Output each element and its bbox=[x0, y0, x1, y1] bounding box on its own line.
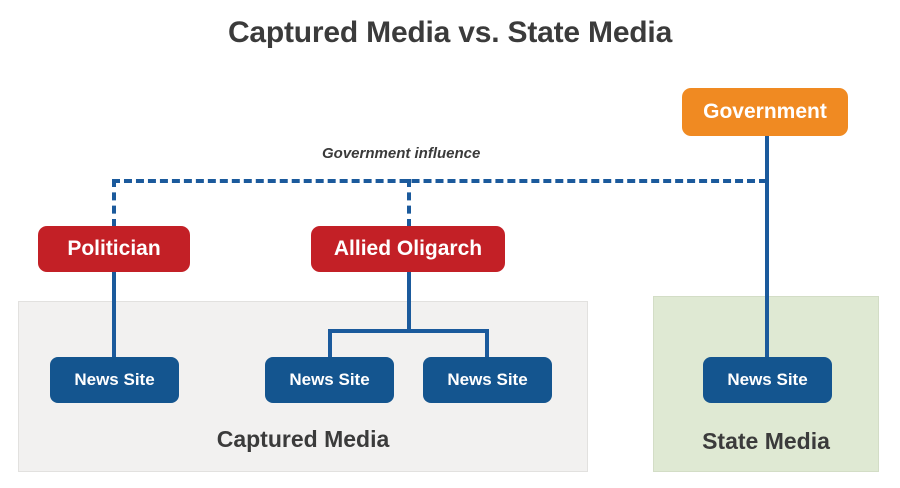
connector-politician-to-news bbox=[112, 272, 116, 358]
node-news-site-oligarch-right[interactable]: News Site bbox=[423, 357, 552, 403]
connector-oligarch-bus bbox=[328, 329, 488, 333]
connector-oligarch-to-news-left bbox=[328, 329, 332, 358]
influence-line-to-politician bbox=[112, 179, 116, 227]
panel-captured-media-label: Captured Media bbox=[19, 426, 587, 453]
connector-oligarch-to-news-right bbox=[485, 329, 489, 358]
diagram-canvas: Captured Media vs. State Media Captured … bbox=[0, 0, 900, 488]
connector-oligarch-stem bbox=[407, 272, 411, 331]
panel-state-media-label: State Media bbox=[654, 428, 878, 455]
node-news-site-state[interactable]: News Site bbox=[703, 357, 832, 403]
page-title: Captured Media vs. State Media bbox=[0, 16, 900, 50]
node-politician[interactable]: Politician bbox=[38, 226, 190, 272]
influence-line-horizontal bbox=[112, 179, 767, 183]
node-news-site-oligarch-left[interactable]: News Site bbox=[265, 357, 394, 403]
node-news-site-politician[interactable]: News Site bbox=[50, 357, 179, 403]
influence-line-to-oligarch bbox=[407, 179, 411, 227]
annotation-government-influence: Government influence bbox=[322, 145, 480, 162]
node-government[interactable]: Government bbox=[682, 88, 848, 136]
connector-government-to-state-news bbox=[765, 136, 769, 358]
node-allied-oligarch[interactable]: Allied Oligarch bbox=[311, 226, 505, 272]
